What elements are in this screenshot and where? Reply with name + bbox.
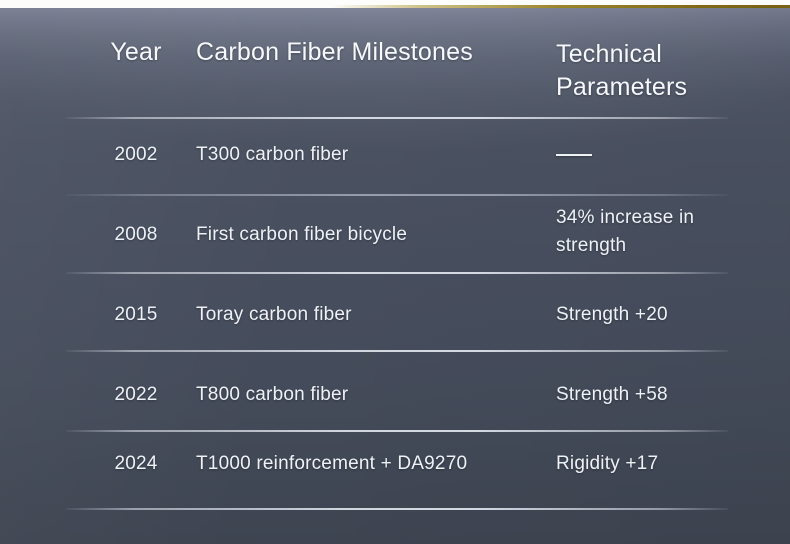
column-header-parameter-line1: Technical	[556, 38, 742, 71]
column-header-year: Year	[84, 38, 188, 67]
cell-year: 2024	[84, 453, 188, 475]
column-header-parameter: Technical Parameters	[556, 38, 742, 104]
cell-year: 2022	[84, 384, 188, 406]
cell-milestone: T800 carbon fiber	[196, 384, 544, 406]
table-row[interactable]: 2015 Toray carbon fiber Strength +20	[0, 300, 790, 330]
cell-milestone: T300 carbon fiber	[196, 144, 544, 166]
cell-milestone: T1000 reinforcement + DA9270	[196, 453, 544, 475]
cell-parameter: Strength +58	[556, 381, 742, 409]
cell-year: 2015	[84, 304, 188, 326]
table-row[interactable]: 2024 T1000 reinforcement + DA9270 Rigidi…	[0, 449, 790, 479]
cell-milestone: Toray carbon fiber	[196, 304, 544, 326]
cell-parameter: Rigidity +17	[556, 450, 742, 478]
cell-milestone: First carbon fiber bicycle	[196, 224, 544, 246]
cell-parameter: Strength +20	[556, 301, 742, 329]
divider-below-header	[66, 117, 728, 119]
cell-parameter-line1: 34% increase in	[556, 204, 742, 232]
screenshot-root: Year Carbon Fiber Milestones Technical P…	[0, 0, 790, 544]
table-row[interactable]: 2002 T300 carbon fiber	[0, 140, 790, 170]
column-header-milestone: Carbon Fiber Milestones	[196, 38, 544, 67]
cell-parameter: 34% increase in strength	[556, 204, 742, 260]
column-header-parameter-line2: Parameters	[556, 71, 742, 104]
divider-row-4	[66, 430, 728, 432]
cell-year: 2002	[84, 144, 188, 166]
em-dash-icon	[556, 154, 592, 156]
cell-parameter	[556, 141, 742, 169]
divider-row-1	[66, 194, 728, 196]
table-header-row: Year Carbon Fiber Milestones Technical P…	[0, 38, 790, 110]
cell-parameter-line2: strength	[556, 232, 742, 260]
top-gold-accent-rule	[0, 5, 790, 8]
cell-year: 2008	[84, 224, 188, 246]
table-row[interactable]: 2022 T800 carbon fiber Strength +58	[0, 380, 790, 410]
divider-row-3	[66, 350, 728, 352]
divider-row-5	[66, 508, 728, 510]
divider-row-2	[66, 272, 728, 274]
